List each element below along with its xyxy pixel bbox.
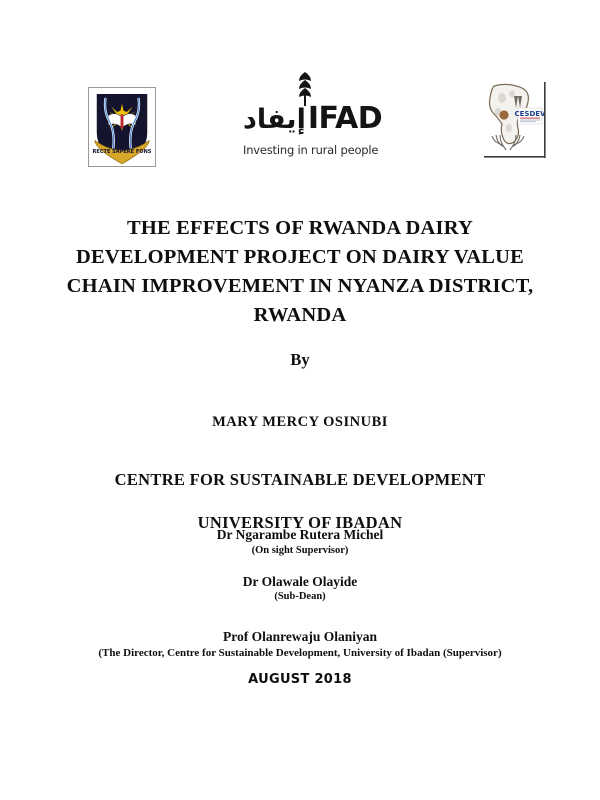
supervisors-block: Dr Ngarambe Rutera Michel (On sight Supe… <box>0 527 600 620</box>
institution-block: CENTRE FOR SUSTAINABLE DEVELOPMENT UNIVE… <box>0 470 600 533</box>
supervisor-role: (On sight Supervisor) <box>0 544 600 558</box>
director-block: Prof Olanrewaju Olaniyan (The Director, … <box>0 628 600 660</box>
supervisor-role: (Sub-Dean) <box>0 590 600 604</box>
institution-centre: CENTRE FOR SUSTAINABLE DEVELOPMENT <box>115 470 486 489</box>
supervisor-entry: Dr Ngarambe Rutera Michel (On sight Supe… <box>0 527 600 558</box>
document-page: RECTE SAPERE FONS إيفادIFAD Investing in… <box>0 0 600 800</box>
university-of-ibadan-crest-icon: RECTE SAPERE FONS <box>88 87 156 167</box>
by-label: By <box>0 350 600 370</box>
ifad-latin-wordmark: IFAD <box>308 101 382 136</box>
supervisor-name: Dr Ngarambe Rutera Michel <box>0 527 600 544</box>
submission-date: AUGUST 2018 <box>0 672 600 687</box>
ifad-tagline: Investing in rural people <box>243 143 378 157</box>
author-name: MARY MERCY OSINUBI <box>0 414 600 431</box>
director-role: (The Director, Centre for Sustainable De… <box>0 646 600 661</box>
director-name: Prof Olanrewaju Olaniyan <box>0 628 600 646</box>
ifad-arabic-wordmark: إيفاد <box>243 104 306 135</box>
ifad-logo: إيفادIFAD Investing in rural people <box>243 70 378 170</box>
logo-band: RECTE SAPERE FONS إيفادIFAD Investing in… <box>0 70 600 182</box>
crest-motto: RECTE SAPERE FONS <box>93 149 152 155</box>
ifad-wordmark: إيفادIFAD <box>243 104 378 134</box>
page-title: THE EFFECTS OF RWANDA DAIRY DEVELOPMENT … <box>48 214 552 330</box>
cesdev-wordmark: CESDEV <box>515 110 547 118</box>
supervisor-entry: Dr Olawale Olayide (Sub-Dean) <box>0 574 600 605</box>
supervisor-name: Dr Olawale Olayide <box>0 574 600 591</box>
cesdev-logo-icon: CESDEV <box>478 80 548 162</box>
